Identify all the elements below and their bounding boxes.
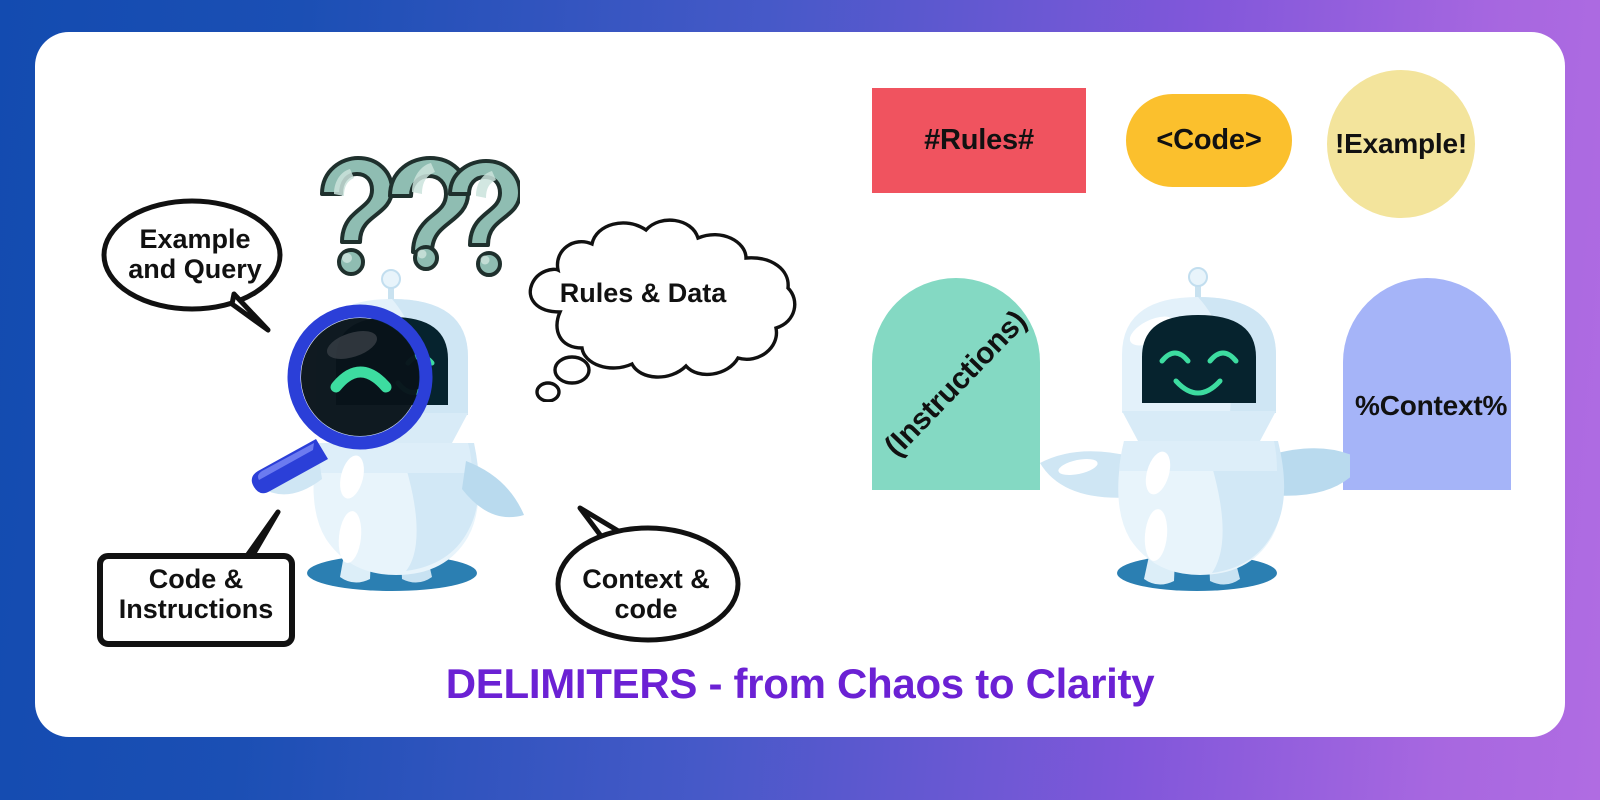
delimiter-rules[interactable]: #Rules# <box>872 88 1086 193</box>
delimiter-instructions[interactable]: (Instructions) <box>872 278 1040 490</box>
searching-robot <box>240 255 550 595</box>
bubble-context-and-code <box>548 492 752 648</box>
happy-robot <box>1030 255 1350 595</box>
delimiter-context-label: %Context% <box>1343 300 1511 512</box>
delimiter-code[interactable]: <Code> <box>1126 94 1292 187</box>
delimiter-rules-label: #Rules# <box>872 88 1086 193</box>
delimiter-example-label: !Example! <box>1327 70 1475 218</box>
page-title: DELIMITERS - from Chaos to Clarity <box>0 660 1600 708</box>
delimiter-example[interactable]: !Example! <box>1327 70 1475 218</box>
delimiter-context[interactable]: %Context% <box>1343 278 1511 490</box>
delimiter-code-label: <Code> <box>1126 94 1292 187</box>
poster-canvas: Example and Query Rules & Data Code & In… <box>0 0 1600 800</box>
